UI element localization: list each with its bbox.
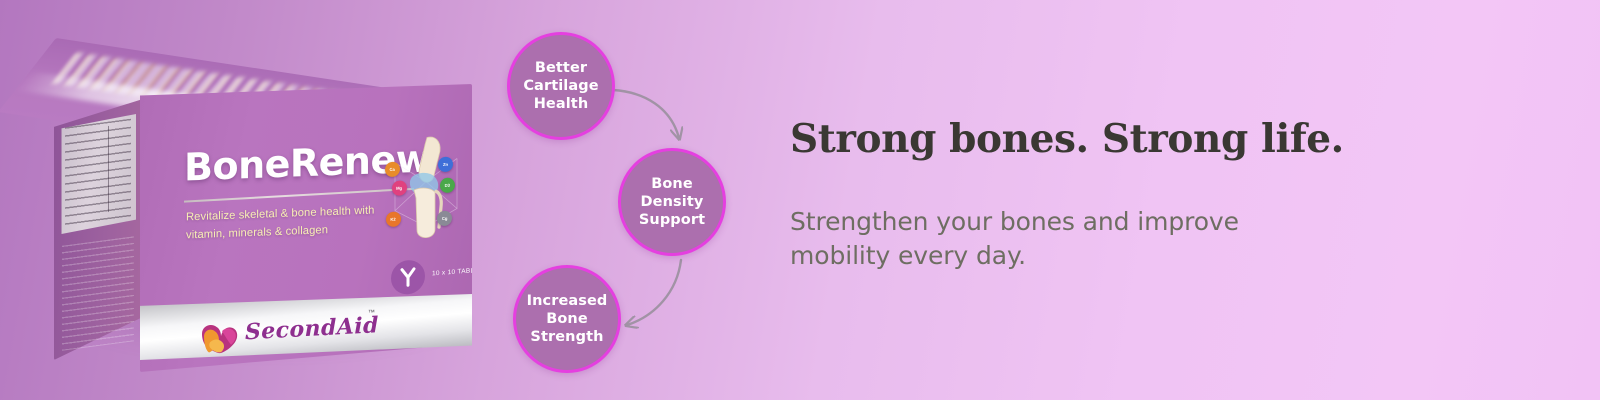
flow-node-label: Better Cartilage Health bbox=[517, 59, 604, 113]
mineral-badge-label: D3 bbox=[445, 183, 450, 188]
flow-node-label: Bone Density Support bbox=[633, 175, 711, 229]
arrow-cartilage-to-density bbox=[613, 90, 679, 138]
nutrition-facts-rows bbox=[65, 119, 131, 228]
tablet-glyph-icon bbox=[400, 267, 416, 288]
knee-joint-illustration: Ca Mg Zn D3 K2 Cg bbox=[383, 130, 469, 243]
heart-swoosh-icon bbox=[198, 318, 242, 356]
product-package-image: BoneRenew Revitalize skeletal & bone hea… bbox=[40, 36, 500, 366]
tablet-badge bbox=[391, 259, 425, 295]
product-tagline: Revitalize skeletal & bone health with v… bbox=[186, 201, 391, 245]
mineral-badge-label: Cg bbox=[442, 216, 448, 221]
benefits-flow-diagram: Better Cartilage Health Bone Density Sup… bbox=[495, 20, 745, 380]
mineral-badge-label: K2 bbox=[390, 217, 395, 222]
marketing-copy-block: Strong bones. Strong life. Strengthen yo… bbox=[790, 118, 1430, 272]
tablet-count-text: 10 x 10 TABLETS bbox=[432, 266, 488, 277]
flow-node-better-cartilage-health[interactable]: Better Cartilage Health bbox=[507, 32, 615, 140]
box-side-fine-print bbox=[62, 236, 134, 350]
nutrition-facts-column-divider bbox=[108, 126, 109, 212]
headline: Strong bones. Strong life. bbox=[790, 118, 1430, 161]
secondaid-heart-logo bbox=[198, 318, 242, 356]
flow-node-label: Increased Bone Strength bbox=[521, 292, 614, 346]
mineral-badge: Ca bbox=[385, 161, 400, 177]
nutrition-facts-panel bbox=[60, 114, 136, 234]
mineral-badge-label: Zn bbox=[443, 162, 448, 167]
flow-node-bone-density-support[interactable]: Bone Density Support bbox=[618, 148, 726, 256]
subheadline: Strengthen your bones and improve mobili… bbox=[790, 205, 1280, 273]
arrow-density-to-strength bbox=[627, 260, 681, 325]
flow-node-increased-bone-strength[interactable]: Increased Bone Strength bbox=[513, 265, 621, 373]
mineral-badge-label: Mg bbox=[396, 186, 402, 191]
mineral-badge-label: Ca bbox=[390, 166, 395, 171]
trademark-symbol: ™ bbox=[368, 309, 375, 316]
secondaid-wordmark: SecondAid bbox=[245, 312, 379, 345]
promo-banner: BoneRenew Revitalize skeletal & bone hea… bbox=[0, 0, 1600, 400]
